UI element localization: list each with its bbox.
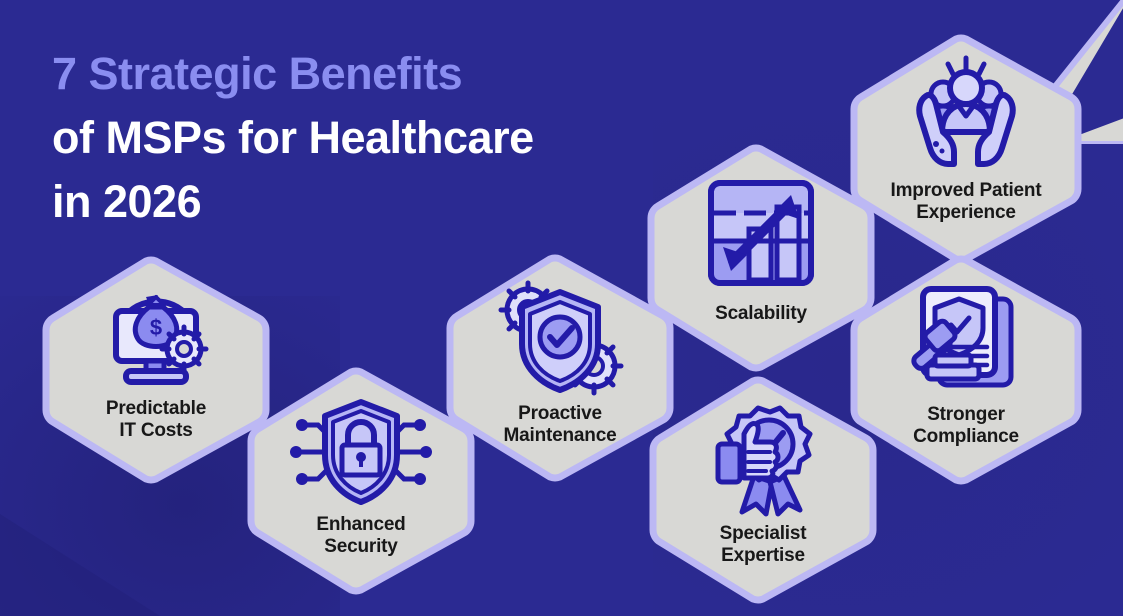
icon-monitor-money-bag-gear: $	[40, 281, 272, 391]
thumbs-up-award-badge-icon	[698, 404, 828, 518]
shield-check-gears-icon	[494, 282, 626, 398]
document-gavel-shield-icon	[905, 283, 1027, 397]
benefit-label: Enhanced Security	[245, 514, 477, 559]
benefit-tile-specialist-expertise[interactable]: Specialist Expertise	[647, 375, 879, 605]
title-line-2: of MSPs for Healthcare	[52, 106, 692, 170]
benefit-label: Proactive Maintenance	[444, 403, 676, 448]
icon-shield-check-gears	[444, 281, 676, 399]
page-title: 7 Strategic Benefits of MSPs for Healthc…	[52, 42, 692, 234]
benefit-tile-enhanced-security[interactable]: Enhanced Security	[245, 366, 477, 596]
benefit-tile-stronger-compliance[interactable]: Stronger Compliance	[848, 254, 1084, 486]
infographic-canvas: 7 Strategic Benefits of MSPs for Healthc…	[0, 0, 1123, 616]
benefit-label: Scalability	[645, 303, 877, 325]
icon-document-gavel-shield	[848, 282, 1084, 398]
icon-hands-holding-people	[848, 55, 1084, 175]
hands-holding-people-icon	[896, 56, 1036, 174]
benefit-tile-proactive-maintenance[interactable]: Proactive Maintenance	[444, 253, 676, 483]
benefit-tile-predictable-it-costs[interactable]: $ Predictable IT Costs	[40, 255, 272, 485]
icon-thumbs-up-award-badge	[647, 403, 879, 519]
benefit-label: Stronger Compliance	[848, 404, 1084, 449]
benefit-label: Improved Patient Experience	[848, 180, 1084, 225]
svg-text:$: $	[150, 315, 162, 340]
title-line-3: in 2026	[52, 170, 692, 234]
icon-shield-padlock-circuit	[245, 396, 477, 508]
monitor-money-bag-gear-icon: $	[100, 283, 212, 389]
benefit-tile-improved-patient-experience[interactable]: Improved Patient Experience	[848, 33, 1084, 265]
corner-accent-bottom-left	[0, 496, 160, 616]
bar-chart-growth-arrow-icon	[705, 177, 817, 289]
title-line-1: 7 Strategic Benefits	[52, 42, 692, 106]
benefit-label: Specialist Expertise	[647, 523, 879, 568]
shield-padlock-circuit-icon	[288, 397, 434, 507]
benefit-label: Predictable IT Costs	[40, 398, 272, 443]
